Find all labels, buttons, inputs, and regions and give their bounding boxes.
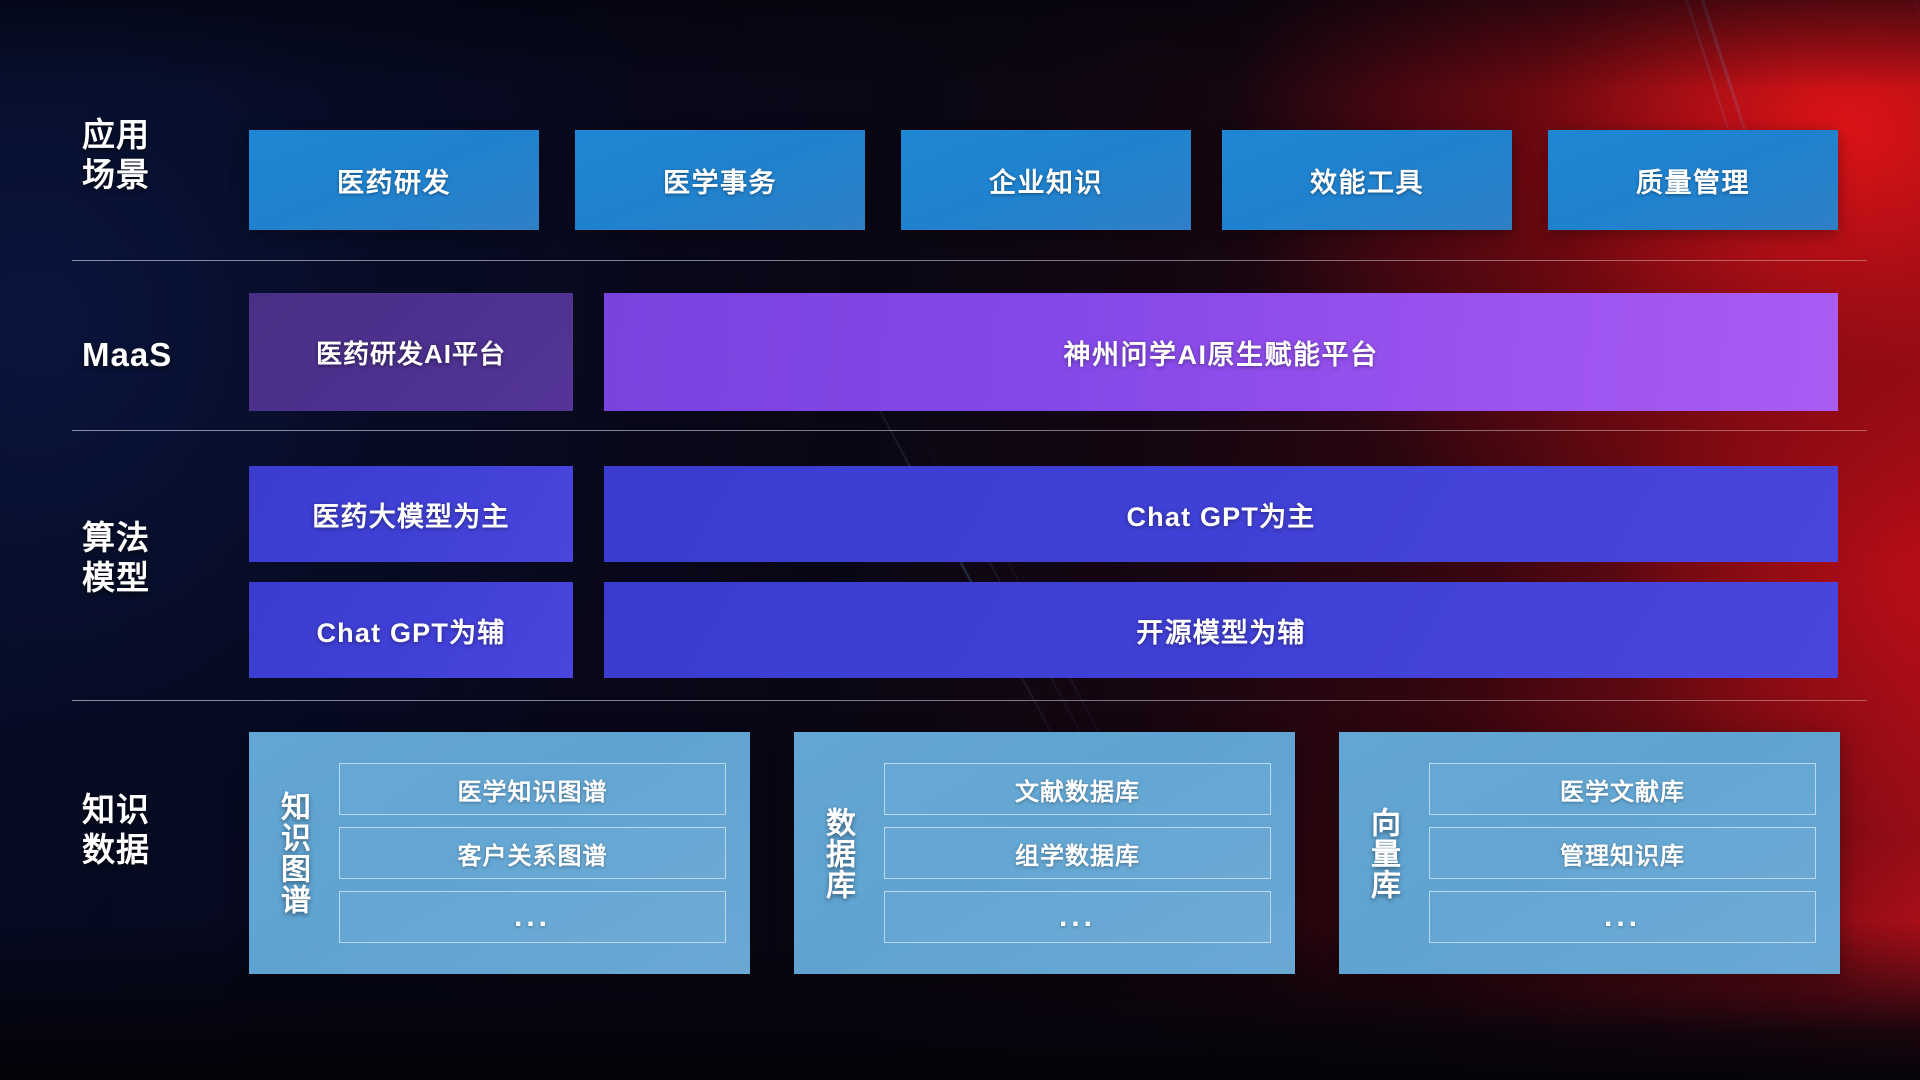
algo-card-row2-right[interactable]: 开源模型为辅 [604, 582, 1838, 678]
row-label-algorithm-model: 算法 模型 [82, 518, 212, 599]
knowledge-group-1[interactable]: 知识图谱 医学知识图谱 客户关系图谱 ... [249, 732, 750, 974]
knowledge-item-more[interactable]: ... [1429, 891, 1816, 943]
row-label-maas: MaaS [82, 335, 212, 375]
knowledge-item-more[interactable]: ... [884, 891, 1271, 943]
algo-card-row1-left[interactable]: 医药大模型为主 [249, 466, 573, 562]
knowledge-group-1-items: 医学知识图谱 客户关系图谱 ... [335, 732, 750, 974]
algo-card-row2-left[interactable]: Chat GPT为辅 [249, 582, 573, 678]
knowledge-group-3-items: 医学文献库 管理知识库 ... [1425, 732, 1840, 974]
chip-app-scenario-1[interactable]: 医药研发 [249, 130, 539, 230]
row-label-knowledge-data: 知识 数据 [82, 790, 212, 871]
knowledge-group-3-title: 向量库 [1339, 732, 1425, 974]
chip-app-scenario-5[interactable]: 质量管理 [1548, 130, 1838, 230]
row-label-algo-line-1: 算法 [82, 518, 212, 558]
maas-card-right[interactable]: 神州问学AI原生赋能平台 [604, 293, 1838, 411]
knowledge-group-2[interactable]: 数据库 文献数据库 组学数据库 ... [794, 732, 1295, 974]
architecture-diagram: 应用 场景 医药研发 医学事务 企业知识 效能工具 质量管理 MaaS 医药研发… [0, 0, 1920, 1080]
row-label-maas-text: MaaS [82, 335, 212, 375]
divider-2 [72, 430, 1867, 431]
maas-card-left[interactable]: 医药研发AI平台 [249, 293, 573, 411]
row-label-algo-line-2: 模型 [82, 558, 212, 598]
divider-3 [72, 700, 1867, 701]
knowledge-item[interactable]: 医学文献库 [1429, 763, 1816, 815]
divider-1 [72, 260, 1867, 261]
knowledge-item[interactable]: 文献数据库 [884, 763, 1271, 815]
algo-card-row1-right[interactable]: Chat GPT为主 [604, 466, 1838, 562]
knowledge-group-3[interactable]: 向量库 医学文献库 管理知识库 ... [1339, 732, 1840, 974]
row-label-line-1: 应用 [82, 115, 212, 155]
row-label-knowledge-line-2: 数据 [82, 830, 212, 870]
knowledge-item-more[interactable]: ... [339, 891, 726, 943]
row-label-line-2: 场景 [82, 155, 212, 195]
knowledge-item[interactable]: 管理知识库 [1429, 827, 1816, 879]
row-label-knowledge-line-1: 知识 [82, 790, 212, 830]
knowledge-item[interactable]: 组学数据库 [884, 827, 1271, 879]
knowledge-group-2-title: 数据库 [794, 732, 880, 974]
chip-app-scenario-4[interactable]: 效能工具 [1222, 130, 1512, 230]
knowledge-item[interactable]: 医学知识图谱 [339, 763, 726, 815]
knowledge-group-2-items: 文献数据库 组学数据库 ... [880, 732, 1295, 974]
chip-app-scenario-2[interactable]: 医学事务 [575, 130, 865, 230]
knowledge-group-1-title: 知识图谱 [249, 732, 335, 974]
row-label-application-scenario: 应用 场景 [82, 115, 212, 196]
knowledge-item[interactable]: 客户关系图谱 [339, 827, 726, 879]
chip-app-scenario-3[interactable]: 企业知识 [901, 130, 1191, 230]
